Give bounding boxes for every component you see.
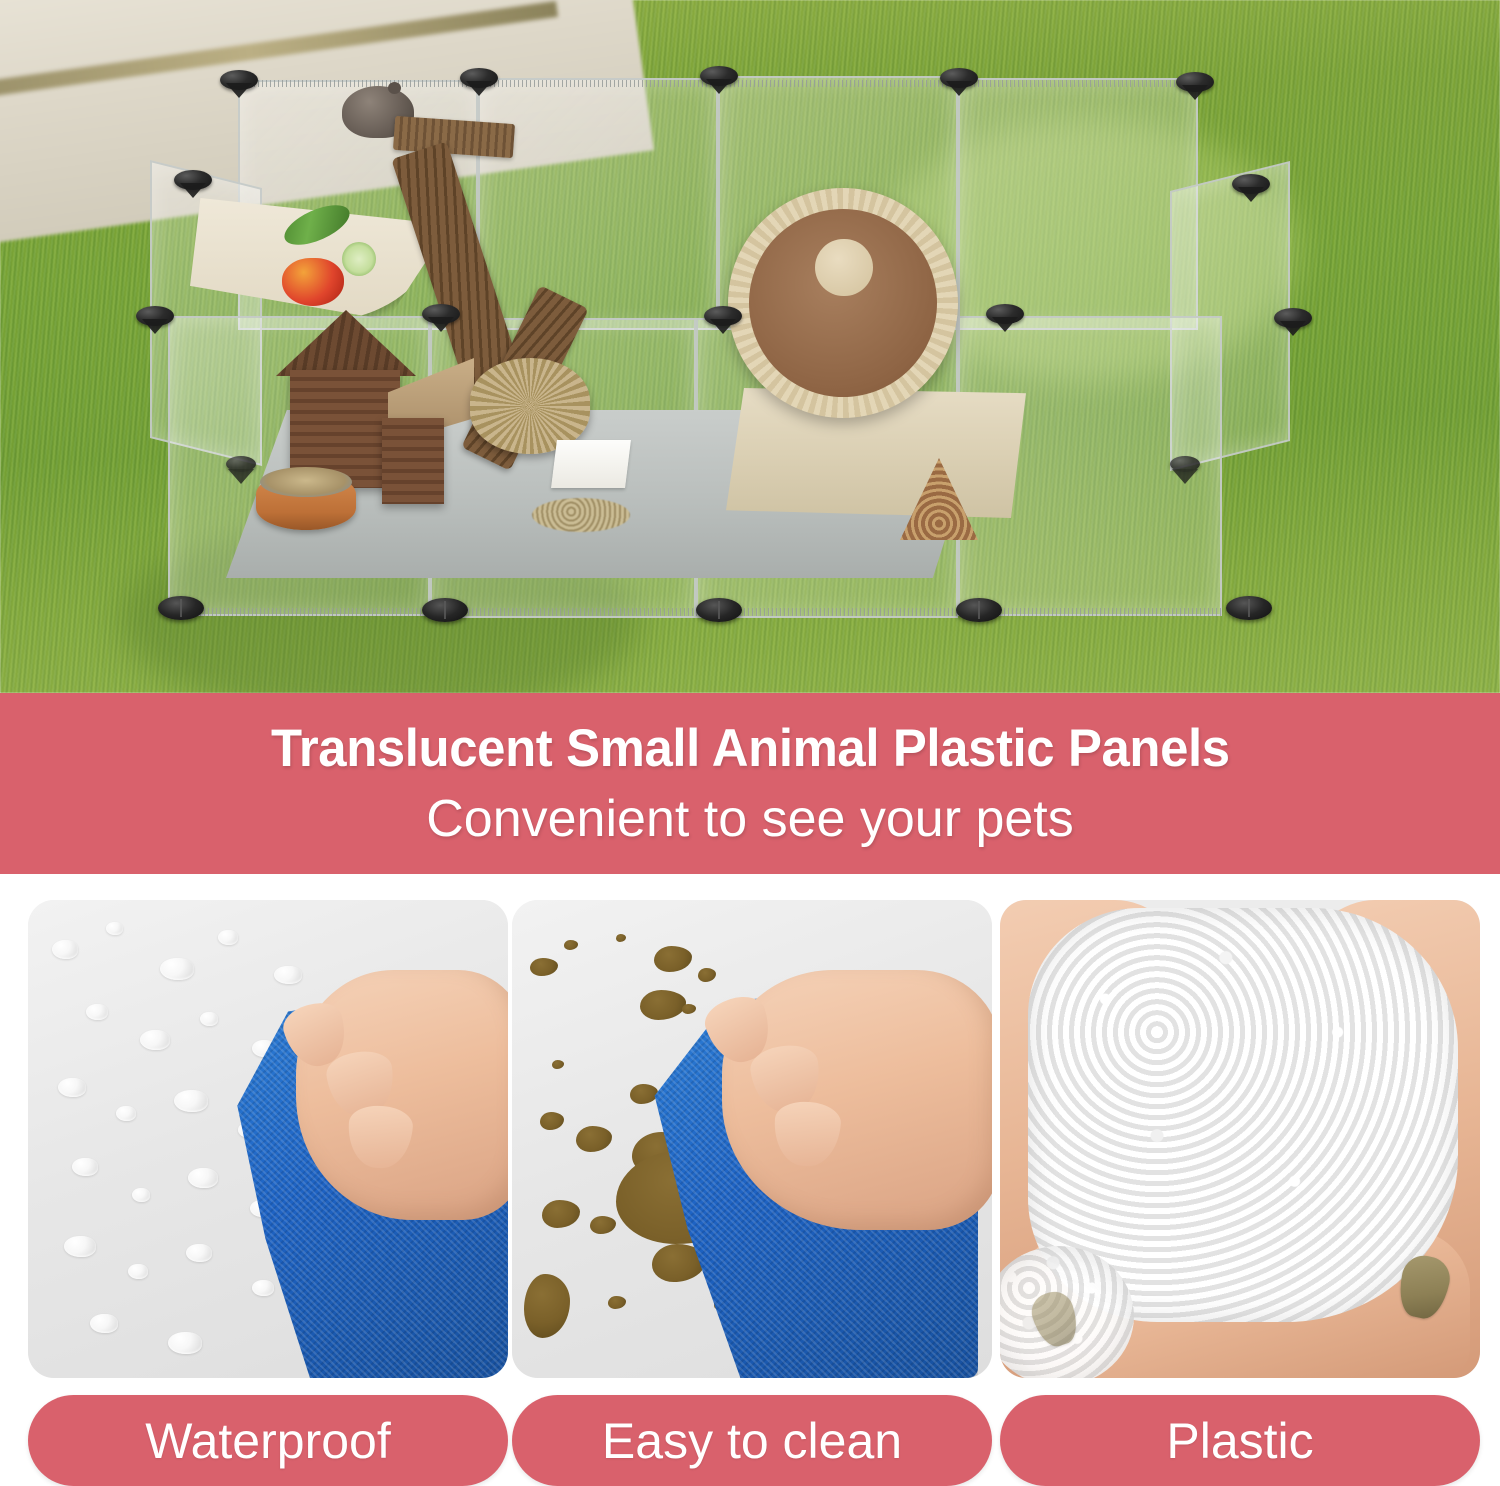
pet-playpen <box>130 58 1320 658</box>
connector-foot-4 <box>956 598 1002 622</box>
water-droplet <box>90 1314 118 1333</box>
water-droplet <box>200 1012 218 1026</box>
water-droplet <box>58 1078 86 1097</box>
connector-clip-top-2 <box>460 68 498 88</box>
connector-clip-top-5 <box>1176 72 1214 92</box>
water-droplet <box>252 1280 274 1296</box>
exercise-wheel <box>728 188 958 418</box>
waterproof-photo <box>28 900 508 1378</box>
water-droplet <box>188 1168 218 1188</box>
water-droplet <box>52 940 78 959</box>
wheel-inner-surface <box>749 209 938 398</box>
feature-label: Easy to clean <box>602 1416 902 1466</box>
connector-clip-top-4 <box>940 68 978 88</box>
water-droplet <box>274 966 302 984</box>
bowl-seeds <box>260 467 352 497</box>
connector-clip-small-left <box>226 456 256 472</box>
food-bowl <box>256 472 356 530</box>
water-droplet <box>174 1090 208 1112</box>
product-infographic: Translucent Small Animal Plastic Panels … <box>0 0 1500 1486</box>
connector-foot-2 <box>422 598 468 622</box>
feature-pill-waterproof[interactable]: Waterproof <box>28 1395 508 1486</box>
water-droplet <box>218 930 238 945</box>
water-droplet <box>64 1236 96 1257</box>
connector-clip-right-upper <box>1232 174 1270 194</box>
water-droplet <box>72 1158 98 1176</box>
feature-pill-easy-to-clean[interactable]: Easy to clean <box>512 1395 992 1486</box>
connector-clip-mid-3 <box>704 306 742 326</box>
connector-clip-mid-5 <box>1274 308 1312 328</box>
water-droplet <box>160 958 194 980</box>
connector-clip-mid-1 <box>136 306 174 326</box>
banner-subtitle: Convenient to see your pets <box>426 793 1074 845</box>
cucumber-slice <box>342 242 376 276</box>
connector-foot-5 <box>1226 596 1272 620</box>
water-droplet <box>132 1188 150 1202</box>
hero-image <box>0 0 1500 693</box>
water-droplet <box>140 1030 170 1050</box>
water-droplet <box>186 1244 212 1262</box>
panel-rear-2 <box>478 78 718 330</box>
connector-clip-small-right <box>1170 456 1200 472</box>
water-droplet <box>116 1106 136 1121</box>
feature-waterproof: Waterproof <box>28 874 508 1486</box>
water-droplet <box>128 1264 148 1279</box>
headline-banner: Translucent Small Animal Plastic Panels … <box>0 693 1500 874</box>
easy-to-clean-photo <box>512 900 992 1378</box>
water-droplet <box>168 1332 202 1354</box>
feature-pill-plastic[interactable]: Plastic <box>1000 1395 1480 1486</box>
feature-plastic: Plastic <box>1000 874 1480 1486</box>
connector-foot-3 <box>696 598 742 622</box>
wheel-hub <box>815 239 873 297</box>
connector-clip-top-1 <box>220 70 258 90</box>
panel-rear-4 <box>958 78 1198 330</box>
connector-clip-mid-4 <box>986 304 1024 324</box>
feature-label: Waterproof <box>145 1416 390 1466</box>
plastic-photo <box>1000 900 1480 1378</box>
connector-clip-mid-2 <box>422 304 460 324</box>
house-step <box>382 418 444 504</box>
paper-scrap <box>551 440 631 488</box>
hamster-ear-left <box>388 82 401 94</box>
feature-row: Waterproof <box>0 874 1500 1486</box>
feature-label: Plastic <box>1166 1416 1313 1466</box>
banner-title: Translucent Small Animal Plastic Panels <box>271 722 1230 775</box>
connector-clip-top-3 <box>700 66 738 86</box>
water-droplet <box>86 1004 108 1020</box>
feature-easy-to-clean: Easy to clean <box>512 874 992 1486</box>
panel-rib-bottom <box>168 608 1222 616</box>
apple <box>282 258 344 306</box>
water-droplet <box>106 922 123 935</box>
connector-clip-left-upper <box>174 170 212 190</box>
seed-pile <box>532 498 630 532</box>
connector-foot-1 <box>158 596 204 620</box>
